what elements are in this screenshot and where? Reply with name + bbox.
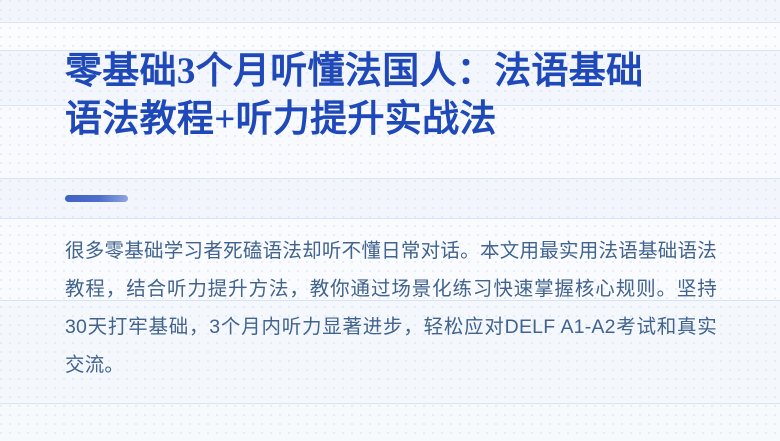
page-title: 零基础3个月听懂法国人：法语基础 语法教程+听力提升实战法 bbox=[65, 48, 735, 144]
accent-divider bbox=[65, 195, 128, 202]
article-summary: 很多零基础学习者死磕语法却听不懂日常对话。本文用最实用法语基础语法教程，结合听力… bbox=[65, 232, 717, 384]
card-content: 零基础3个月听懂法国人：法语基础 语法教程+听力提升实战法 很多零基础学习者死磕… bbox=[0, 0, 780, 441]
article-title-card: 零基础3个月听懂法国人：法语基础 语法教程+听力提升实战法 很多零基础学习者死磕… bbox=[0, 0, 780, 441]
